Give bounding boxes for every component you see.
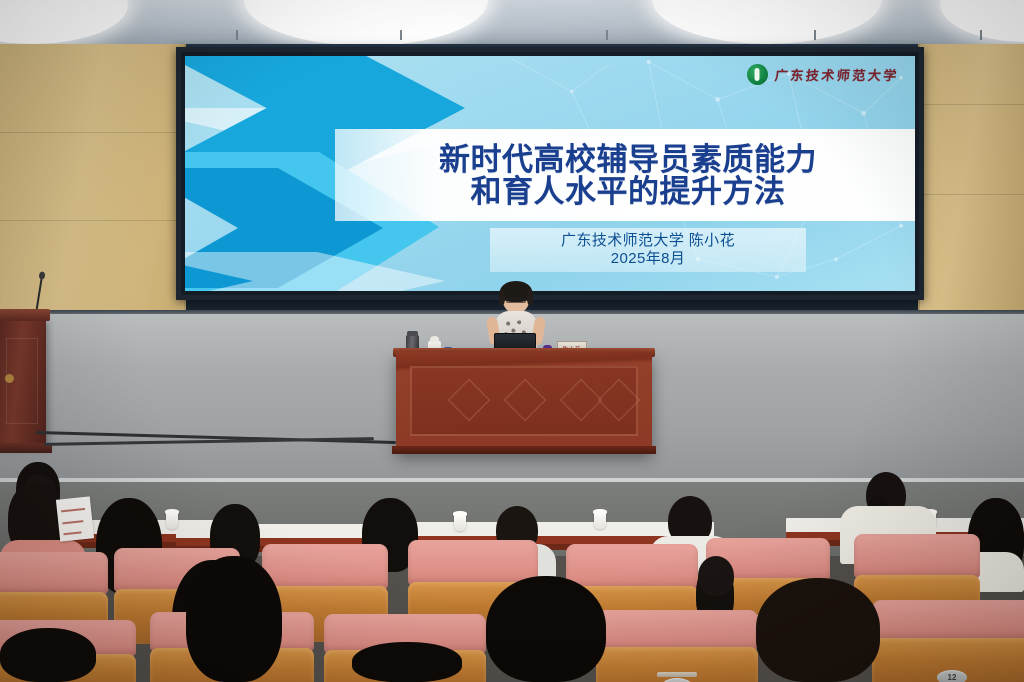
slide-title-line-1: 新时代高校辅导员素质能力 (439, 144, 817, 176)
ceiling (0, 0, 1024, 46)
wall-panel-right (918, 44, 1024, 318)
podium-emblem-icon (5, 374, 14, 383)
podium (0, 318, 46, 446)
desk-base (392, 446, 656, 454)
slide-subtitle: 广东技术师范大学 陈小花 2025年8月 (490, 228, 806, 272)
paper-cup (166, 512, 178, 529)
ceiling-rod (606, 30, 608, 40)
ceiling-light-icon (940, 0, 1024, 42)
university-logo-text: 广东技术师范大学 (774, 65, 900, 84)
wall-panel-left (0, 44, 186, 318)
speaker-desk (396, 352, 652, 452)
speaker-hair-side (527, 289, 533, 305)
ceiling-light-icon (0, 0, 128, 44)
paper-cup (594, 512, 606, 529)
ceiling-light-icon (244, 0, 488, 46)
ceiling-light-icon (652, 0, 882, 44)
auditorium-seat[interactable]: 12 (872, 600, 1024, 682)
seat-card-slot (657, 672, 697, 677)
slide-title-line-2: 和育人水平的提升方法 (471, 176, 786, 208)
ceiling-rod (236, 30, 238, 40)
seat-wood-panel: 11 (596, 647, 758, 682)
seat-back (262, 544, 388, 589)
seat-number-badge: 12 (937, 670, 967, 682)
seat-number-badge: 11 (662, 678, 692, 682)
slide-subtitle-line-1: 广东技术师范大学 陈小花 (561, 232, 735, 250)
university-seal-icon (747, 64, 768, 85)
slide-subtitle-line-2: 2025年8月 (611, 250, 686, 268)
seat-wood-panel: 12 (872, 638, 1024, 682)
slide-title: 新时代高校辅导员素质能力 和育人水平的提升方法 (357, 128, 899, 224)
seat-back (0, 552, 108, 594)
seat-back (596, 610, 758, 650)
glasses-icon (506, 298, 526, 303)
seat-back (566, 544, 698, 589)
desk-panel (410, 366, 638, 436)
seat-back (854, 534, 980, 578)
lecture-hall-scene: 新时代高校辅导员素质能力 和育人水平的提升方法 广东技术师范大学 陈小花 202… (0, 0, 1024, 682)
handout-paper (56, 496, 94, 541)
projection-screen[interactable]: 新时代高校辅导员素质能力 和育人水平的提升方法 广东技术师范大学 陈小花 202… (176, 47, 924, 300)
podium-top (0, 309, 50, 321)
paper-cup (454, 514, 466, 531)
speaker-hair-side (499, 289, 505, 305)
ceiling-rod (980, 30, 982, 40)
seat-back (408, 540, 538, 585)
university-logo: 广东技术师范大学 (747, 64, 899, 85)
auditorium-seat[interactable]: 11 (596, 610, 758, 682)
ceiling-rod (814, 30, 816, 40)
presentation-slide: 新时代高校辅导员素质能力 和育人水平的提升方法 广东技术师范大学 陈小花 202… (185, 56, 915, 291)
seat-back (872, 600, 1024, 640)
desk-diamond-pattern (432, 386, 616, 414)
ceiling-rod (400, 30, 402, 40)
